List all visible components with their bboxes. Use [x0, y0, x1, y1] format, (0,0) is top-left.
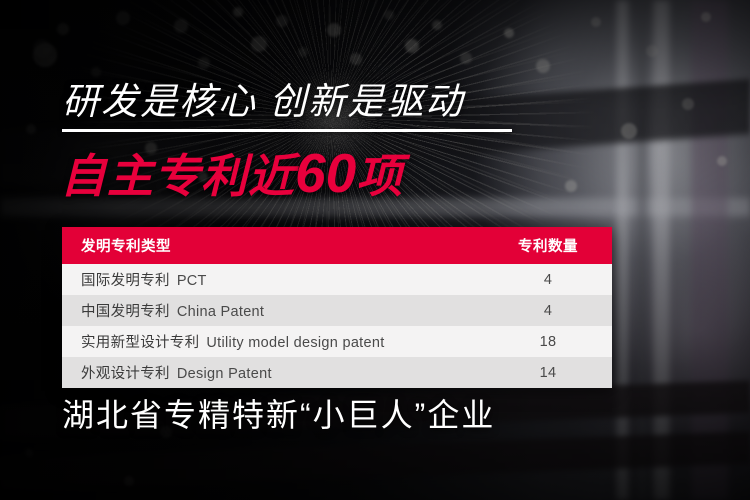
- patent-type-cn: 国际发明专利: [81, 273, 170, 289]
- patent-type-cn: 外观设计专利: [81, 366, 170, 382]
- table-row: 中国发明专利China Patent4: [62, 295, 612, 326]
- table-row: 国际发明专利PCT4: [62, 264, 612, 295]
- banner-content: 研发是核心 创新是驱动 自主专利近60项 发明专利类型 专利数量 国际发明专利P…: [0, 0, 750, 500]
- patent-table-header: 发明专利类型 专利数量: [62, 227, 612, 264]
- promo-banner: 研发是核心 创新是驱动 自主专利近60项 发明专利类型 专利数量 国际发明专利P…: [0, 0, 750, 500]
- cell-patent-count: 4: [484, 295, 612, 326]
- headline-prefix: 自主专利近: [60, 150, 295, 202]
- headline-number: 60: [295, 142, 356, 204]
- footer-award-line: 湖北省专精特新“小巨人”企业: [62, 399, 495, 431]
- headline-suffix: 项: [356, 150, 403, 202]
- headline-patent-count: 自主专利近60项: [60, 146, 403, 201]
- column-header-count: 专利数量: [484, 227, 612, 264]
- cell-patent-count: 18: [484, 326, 612, 357]
- headline-divider-rule: [62, 129, 512, 132]
- patent-type-en: Utility model design patent: [206, 335, 384, 351]
- cell-patent-type: 实用新型设计专利Utility model design patent: [62, 326, 484, 357]
- table-header-row: 发明专利类型 专利数量: [62, 227, 612, 264]
- cell-patent-type: 中国发明专利China Patent: [62, 295, 484, 326]
- headline-tagline: 研发是核心 创新是驱动: [62, 83, 464, 120]
- patent-table-body: 国际发明专利PCT4中国发明专利China Patent4实用新型设计专利Uti…: [62, 264, 612, 388]
- patent-type-cn: 实用新型设计专利: [81, 335, 199, 351]
- column-header-type: 发明专利类型: [62, 227, 484, 264]
- cell-patent-count: 14: [484, 357, 612, 388]
- table-row: 实用新型设计专利Utility model design patent18: [62, 326, 612, 357]
- patent-type-en: Design Patent: [177, 366, 272, 382]
- cell-patent-count: 4: [484, 264, 612, 295]
- table-row: 外观设计专利Design Patent14: [62, 357, 612, 388]
- cell-patent-type: 国际发明专利PCT: [62, 264, 484, 295]
- patent-type-en: China Patent: [177, 304, 264, 320]
- patent-type-cn: 中国发明专利: [81, 304, 170, 320]
- cell-patent-type: 外观设计专利Design Patent: [62, 357, 484, 388]
- patent-table: 发明专利类型 专利数量 国际发明专利PCT4中国发明专利China Patent…: [62, 227, 612, 388]
- patent-type-en: PCT: [177, 273, 207, 289]
